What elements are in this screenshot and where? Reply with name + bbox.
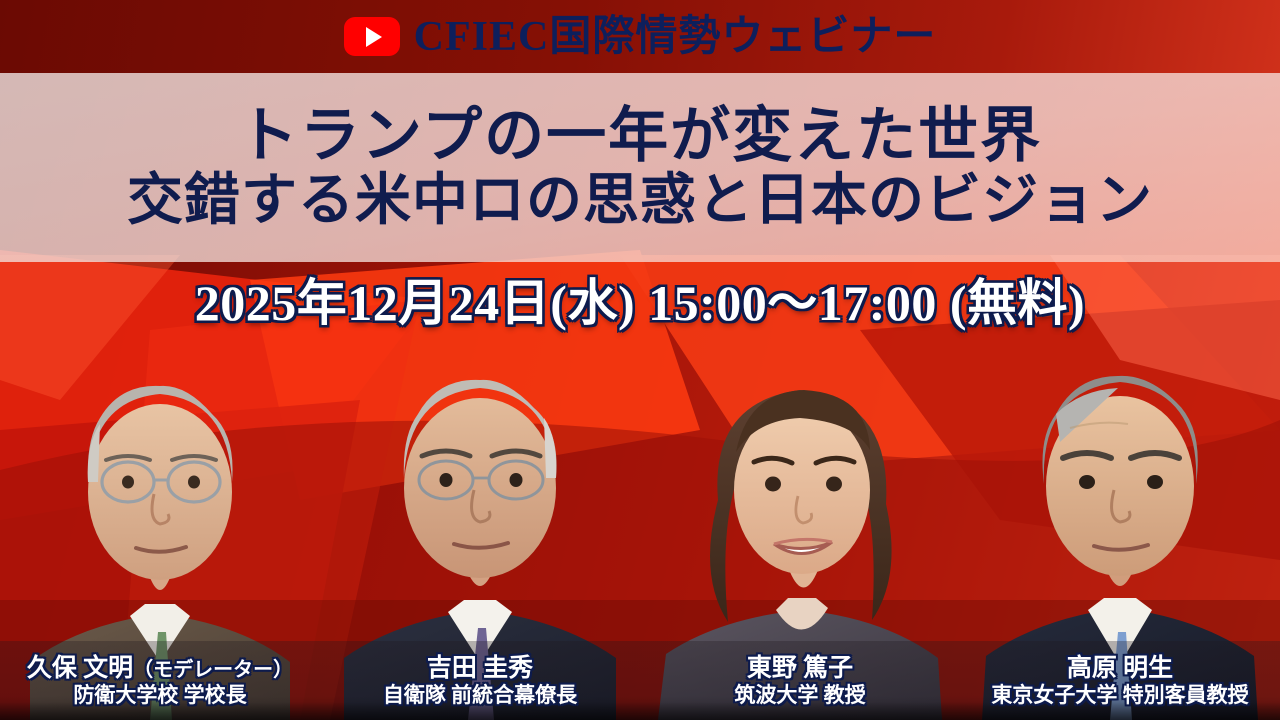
schedule-row: 2025年12月24日(水) 15:00〜17:00 (無料) [0, 266, 1280, 332]
title-line-2: 交錯する米中ロの思惑と日本のビジョン [127, 171, 1153, 231]
speaker-name-band-4: 高原 明生 東京女子大学 特別客員教授 [960, 641, 1280, 720]
webinar-poster: CFIEC国際情勢ウェビナー トランプの一年が変えた世界 交錯する米中ロの思惑と… [0, 0, 1280, 720]
title-line-1: トランプの一年が変えた世界 [238, 104, 1042, 169]
speakers-row: 久保 文明（モデレーター） 防衛大学校 学校長 [0, 332, 1280, 720]
speaker-affiliation-4: 東京女子大学 特別客員教授 [991, 684, 1248, 708]
youtube-play-icon[interactable] [344, 17, 400, 56]
speaker-card-1: 久保 文明（モデレーター） 防衛大学校 学校長 [0, 332, 320, 720]
speaker-name-band-3: 東野 篤子 筑波大学 教授 [640, 641, 960, 720]
speaker-name-3: 東野 篤子 [747, 655, 853, 683]
speaker-name-band-1: 久保 文明（モデレーター） 防衛大学校 学校長 [0, 641, 320, 720]
speaker-card-2: 吉田 圭秀 自衛隊 前統合幕僚長 [320, 332, 640, 720]
play-triangle [366, 27, 382, 47]
speaker-card-4: 高原 明生 東京女子大学 特別客員教授 [960, 332, 1280, 720]
speaker-affiliation-2: 自衛隊 前統合幕僚長 [383, 684, 577, 708]
speaker-name-1: 久保 文明（モデレーター） [27, 655, 293, 683]
schedule-text: 2025年12月24日(水) 15:00〜17:00 (無料) [195, 263, 1085, 335]
speaker-affiliation-1: 防衛大学校 学校長 [73, 684, 246, 708]
header-bar: CFIEC国際情勢ウェビナー [0, 0, 1280, 73]
speaker-card-3: 東野 篤子 筑波大学 教授 [640, 332, 960, 720]
title-band: トランプの一年が変えた世界 交錯する米中ロの思惑と日本のビジョン [0, 73, 1280, 262]
speaker-affiliation-3: 筑波大学 教授 [734, 684, 865, 708]
speaker-name-2: 吉田 圭秀 [427, 655, 533, 683]
speaker-name-4: 高原 明生 [1067, 655, 1173, 683]
header-title: CFIEC国際情勢ウェビナー [414, 16, 937, 58]
speaker-name-band-2: 吉田 圭秀 自衛隊 前統合幕僚長 [320, 641, 640, 720]
